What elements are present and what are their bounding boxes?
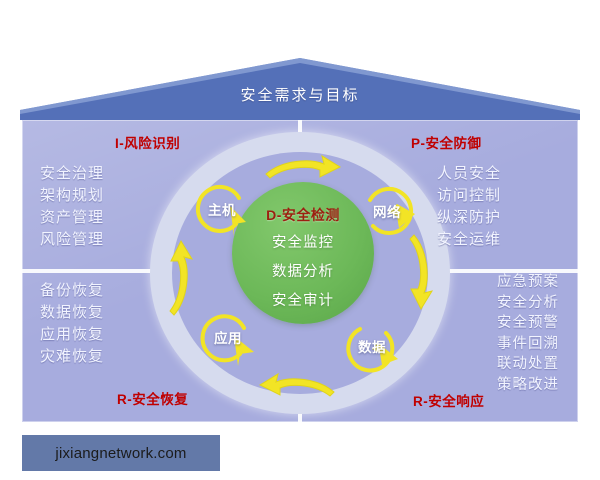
quadrant-title-recover: R-安全恢复 xyxy=(117,388,188,408)
core-item: 安全审计 xyxy=(232,287,374,316)
list-item: 风险管理 xyxy=(40,229,104,251)
core-item-list: 安全监控 数据分析 安全审计 xyxy=(232,229,374,316)
list-item: 人员安全 xyxy=(437,163,501,185)
list-item: 应用恢复 xyxy=(40,324,104,346)
quadrant-list-respond: 应急预案 安全分析 安全预警 事件回溯 联动处置 策略改进 xyxy=(497,272,559,395)
watermark-banner: jixiangnetwork.com xyxy=(22,435,220,471)
list-item: 安全分析 xyxy=(497,293,559,314)
core-item: 安全监控 xyxy=(232,229,374,258)
watermark-text: jixiangnetwork.com xyxy=(55,445,186,462)
quadrant-list-identify: 安全治理 架构规划 资产管理 风险管理 xyxy=(40,163,104,251)
list-item: 安全预警 xyxy=(497,313,559,334)
list-item: 灾难恢复 xyxy=(40,346,104,368)
list-item: 架构规划 xyxy=(40,185,104,207)
roof-shape: 安全需求与目标 xyxy=(20,58,580,120)
list-item: 联动处置 xyxy=(497,354,559,375)
list-item: 数据恢复 xyxy=(40,302,104,324)
list-item: 资产管理 xyxy=(40,207,104,229)
list-item: 安全治理 xyxy=(40,163,104,185)
left-arrow-icon xyxy=(164,238,196,318)
quadrant-title-protect: P-安全防御 xyxy=(411,132,482,152)
diagram-canvas: 安全需求与目标 主机 网络 xyxy=(0,0,600,480)
list-item: 访问控制 xyxy=(437,185,501,207)
list-item: 纵深防护 xyxy=(437,207,501,229)
bottom-arrow-icon xyxy=(258,370,338,402)
quadrant-list-recover: 备份恢复 数据恢复 应用恢复 灾难恢复 xyxy=(40,280,104,368)
right-arrow-icon xyxy=(404,232,436,312)
list-item: 安全运维 xyxy=(437,229,501,251)
quadrant-list-protect: 人员安全 访问控制 纵深防护 安全运维 xyxy=(437,163,501,251)
list-item: 备份恢复 xyxy=(40,280,104,302)
node-data[interactable]: 数据 xyxy=(340,315,404,377)
quadrant-title-identify: I-风险识别 xyxy=(115,132,180,152)
roof-label: 安全需求与目标 xyxy=(20,84,580,105)
list-item: 事件回溯 xyxy=(497,334,559,355)
core-item: 数据分析 xyxy=(232,258,374,287)
list-item: 策略改进 xyxy=(497,375,559,396)
core-title: D-安全检测 xyxy=(232,205,374,225)
list-item: 应急预案 xyxy=(497,272,559,293)
quadrant-title-respond: R-安全响应 xyxy=(413,390,484,410)
node-data-label: 数据 xyxy=(340,315,404,377)
top-arrow-icon xyxy=(262,152,342,184)
